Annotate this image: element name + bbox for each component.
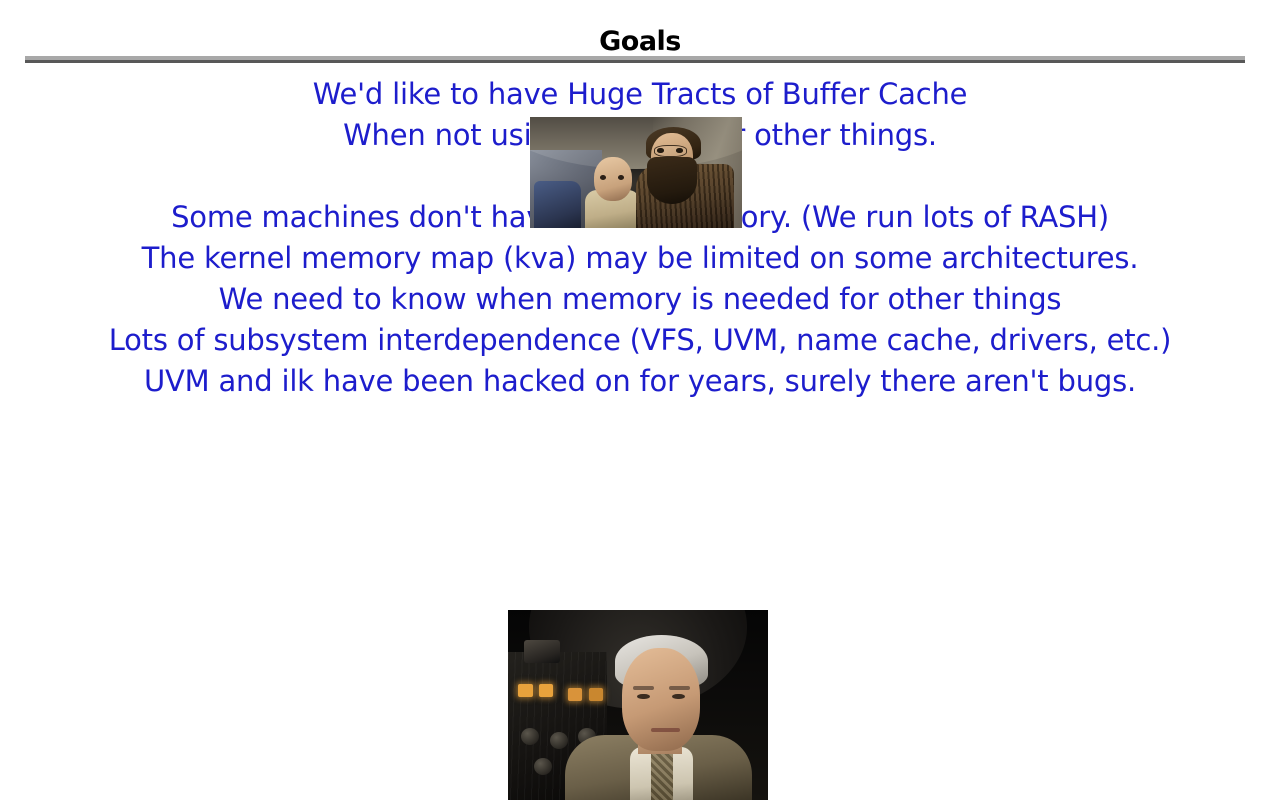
divider-shadow [25, 60, 1245, 63]
young-man-eye-left [600, 175, 606, 180]
man-eyebrow-left [633, 686, 654, 690]
man-face [622, 648, 700, 751]
young-man-eye-right [618, 175, 624, 180]
body-line: We need to know when memory is needed fo… [0, 279, 1280, 320]
man-eye-left [637, 694, 650, 700]
indicator-lamp [518, 684, 532, 697]
man-necktie [651, 754, 673, 800]
cave-drape [534, 181, 581, 228]
page-title: Goals [0, 27, 1280, 57]
indicator-lamp [568, 688, 582, 701]
body-line: The kernel memory map (kva) may be limit… [0, 238, 1280, 279]
bearded-man-eye-left [657, 148, 663, 152]
control-knob [550, 732, 568, 749]
indicator-lamp [589, 688, 603, 701]
man-eye-right [672, 694, 685, 700]
bearded-man-eye-right [676, 148, 682, 152]
airplane-cockpit-photo [508, 610, 768, 800]
bearded-man-beard [647, 157, 698, 204]
man-mouth [651, 728, 680, 733]
body-line: Lots of subsystem interdependence (VFS, … [0, 320, 1280, 361]
control-knob [521, 728, 539, 745]
body-line: UVM and ilk have been hacked on for year… [0, 361, 1280, 402]
man-eyebrow-right [669, 686, 690, 690]
body-line: We'd like to have Huge Tracts of Buffer … [0, 74, 1280, 115]
indicator-lamp [539, 684, 553, 697]
monty-python-cave-photo [530, 117, 742, 228]
young-man-face [594, 157, 632, 201]
overhead-switch-box [524, 640, 560, 663]
title-divider [25, 56, 1245, 63]
